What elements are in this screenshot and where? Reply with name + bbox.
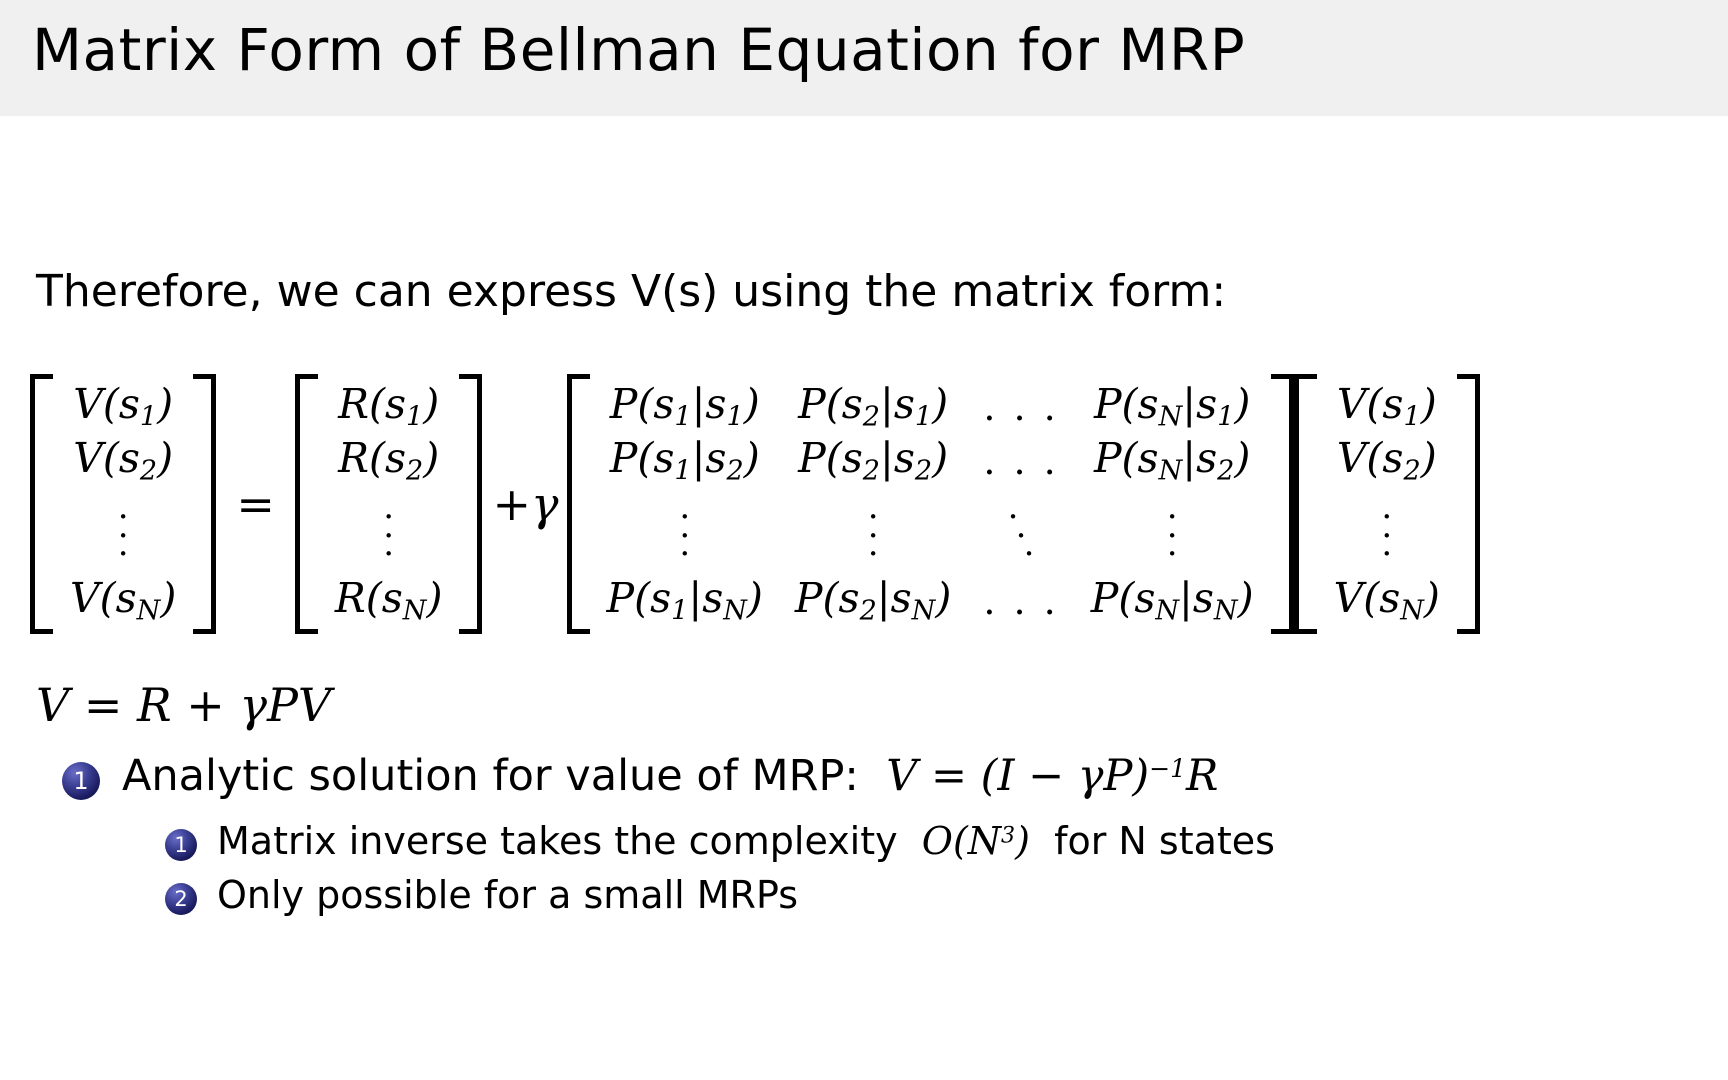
reward-vector: R(s1) R(s2) ... R(sN) bbox=[295, 374, 483, 634]
bullet-item-small-mrps: 2 Only possible for a small MRPs bbox=[165, 876, 798, 916]
matrix-cell: P(s1|sN) bbox=[591, 574, 779, 628]
equals-sign: = bbox=[216, 477, 295, 531]
matrix-cell: V(s1) bbox=[1318, 380, 1456, 434]
matrix-cell: P(s2|sN) bbox=[779, 574, 967, 628]
bullet-item-matrix-inverse-complexity: 1 Matrix inverse takes the complexity O(… bbox=[165, 822, 1275, 862]
rhs-value-vector: V(s1) V(s2) ... V(sN) bbox=[1294, 374, 1480, 634]
analytic-solution-formula: V = (I − γP)−1R bbox=[873, 751, 1219, 801]
intro-text: Therefore, we can express V(s) using the… bbox=[36, 266, 1226, 317]
complexity-formula: O(N3) bbox=[910, 819, 1042, 863]
lhs-value-vector: V(s1) V(s2) ... V(sN) bbox=[30, 374, 216, 634]
bullet-label: Analytic solution for value of MRP: bbox=[122, 751, 859, 801]
matrix-cdots: . . . bbox=[967, 574, 1074, 628]
matrix-cell: P(sN|s1) bbox=[1075, 380, 1270, 434]
matrix-cell: R(sN) bbox=[319, 574, 459, 628]
table-row: P(s1|s1) P(s2|s1) . . . P(sN|s1) bbox=[591, 380, 1270, 434]
bullet-text: Analytic solution for value of MRP: V = … bbox=[122, 754, 1218, 799]
matrix-vdots: ... bbox=[1318, 488, 1456, 574]
matrix-cell: R(s1) bbox=[319, 380, 459, 434]
matrix-cell: V(sN) bbox=[1318, 574, 1456, 628]
matrix-vdots: ... bbox=[779, 488, 967, 574]
table-row: ... ... ... ... bbox=[591, 488, 1270, 574]
matrix-cell: V(s1) bbox=[54, 380, 192, 434]
transition-probability-matrix: P(s1|s1) P(s2|s1) . . . P(sN|s1) P(s1|s2… bbox=[567, 374, 1294, 634]
matrix-cell: V(s2) bbox=[1318, 434, 1456, 488]
matrix-ddots: ... bbox=[967, 488, 1074, 574]
bullet-text: Matrix inverse takes the complexity O(N3… bbox=[217, 822, 1275, 862]
bullet-label-after: for N states bbox=[1054, 819, 1275, 863]
matrix-cell: P(s2|s1) bbox=[779, 380, 967, 434]
matrix-cell: P(sN|sN) bbox=[1075, 574, 1270, 628]
matrix-cell: V(s2) bbox=[54, 434, 192, 488]
matrix-cell: V(sN) bbox=[54, 574, 192, 628]
plus-gamma-operator: +γ bbox=[482, 477, 566, 531]
compact-bellman-equation: V = R + γPV bbox=[36, 678, 331, 732]
table-row: P(s1|s2) P(s2|s2) . . . P(sN|s2) bbox=[591, 434, 1270, 488]
matrix-vdots: ... bbox=[591, 488, 779, 574]
matrix-cdots: . . . bbox=[967, 380, 1074, 434]
bullet-item-analytic-solution: 1 Analytic solution for value of MRP: V … bbox=[62, 754, 1218, 800]
numbered-bullet-icon: 2 bbox=[165, 883, 197, 915]
matrix-equation: V(s1) V(s2) ... V(sN) = R(s1) R(s2) ... … bbox=[30, 374, 1480, 634]
slide-header-band: Matrix Form of Bellman Equation for MRP bbox=[0, 0, 1728, 116]
matrix-cdots: . . . bbox=[967, 434, 1074, 488]
matrix-vdots: ... bbox=[319, 488, 459, 574]
matrix-vdots: ... bbox=[1075, 488, 1270, 574]
matrix-vdots: ... bbox=[54, 488, 192, 574]
bullet-text: Only possible for a small MRPs bbox=[217, 876, 798, 916]
matrix-cell: R(s2) bbox=[319, 434, 459, 488]
numbered-bullet-icon: 1 bbox=[165, 829, 197, 861]
numbered-bullet-icon: 1 bbox=[62, 762, 100, 800]
page-title: Matrix Form of Bellman Equation for MRP bbox=[32, 16, 1245, 84]
bullet-label-before: Matrix inverse takes the complexity bbox=[217, 819, 898, 863]
matrix-cell: P(s1|s2) bbox=[591, 434, 779, 488]
matrix-cell: P(s1|s1) bbox=[591, 380, 779, 434]
matrix-cell: P(s2|s2) bbox=[779, 434, 967, 488]
slide-body: Therefore, we can express V(s) using the… bbox=[0, 116, 1728, 1080]
matrix-cell: P(sN|s2) bbox=[1075, 434, 1270, 488]
table-row: P(s1|sN) P(s2|sN) . . . P(sN|sN) bbox=[591, 574, 1270, 628]
